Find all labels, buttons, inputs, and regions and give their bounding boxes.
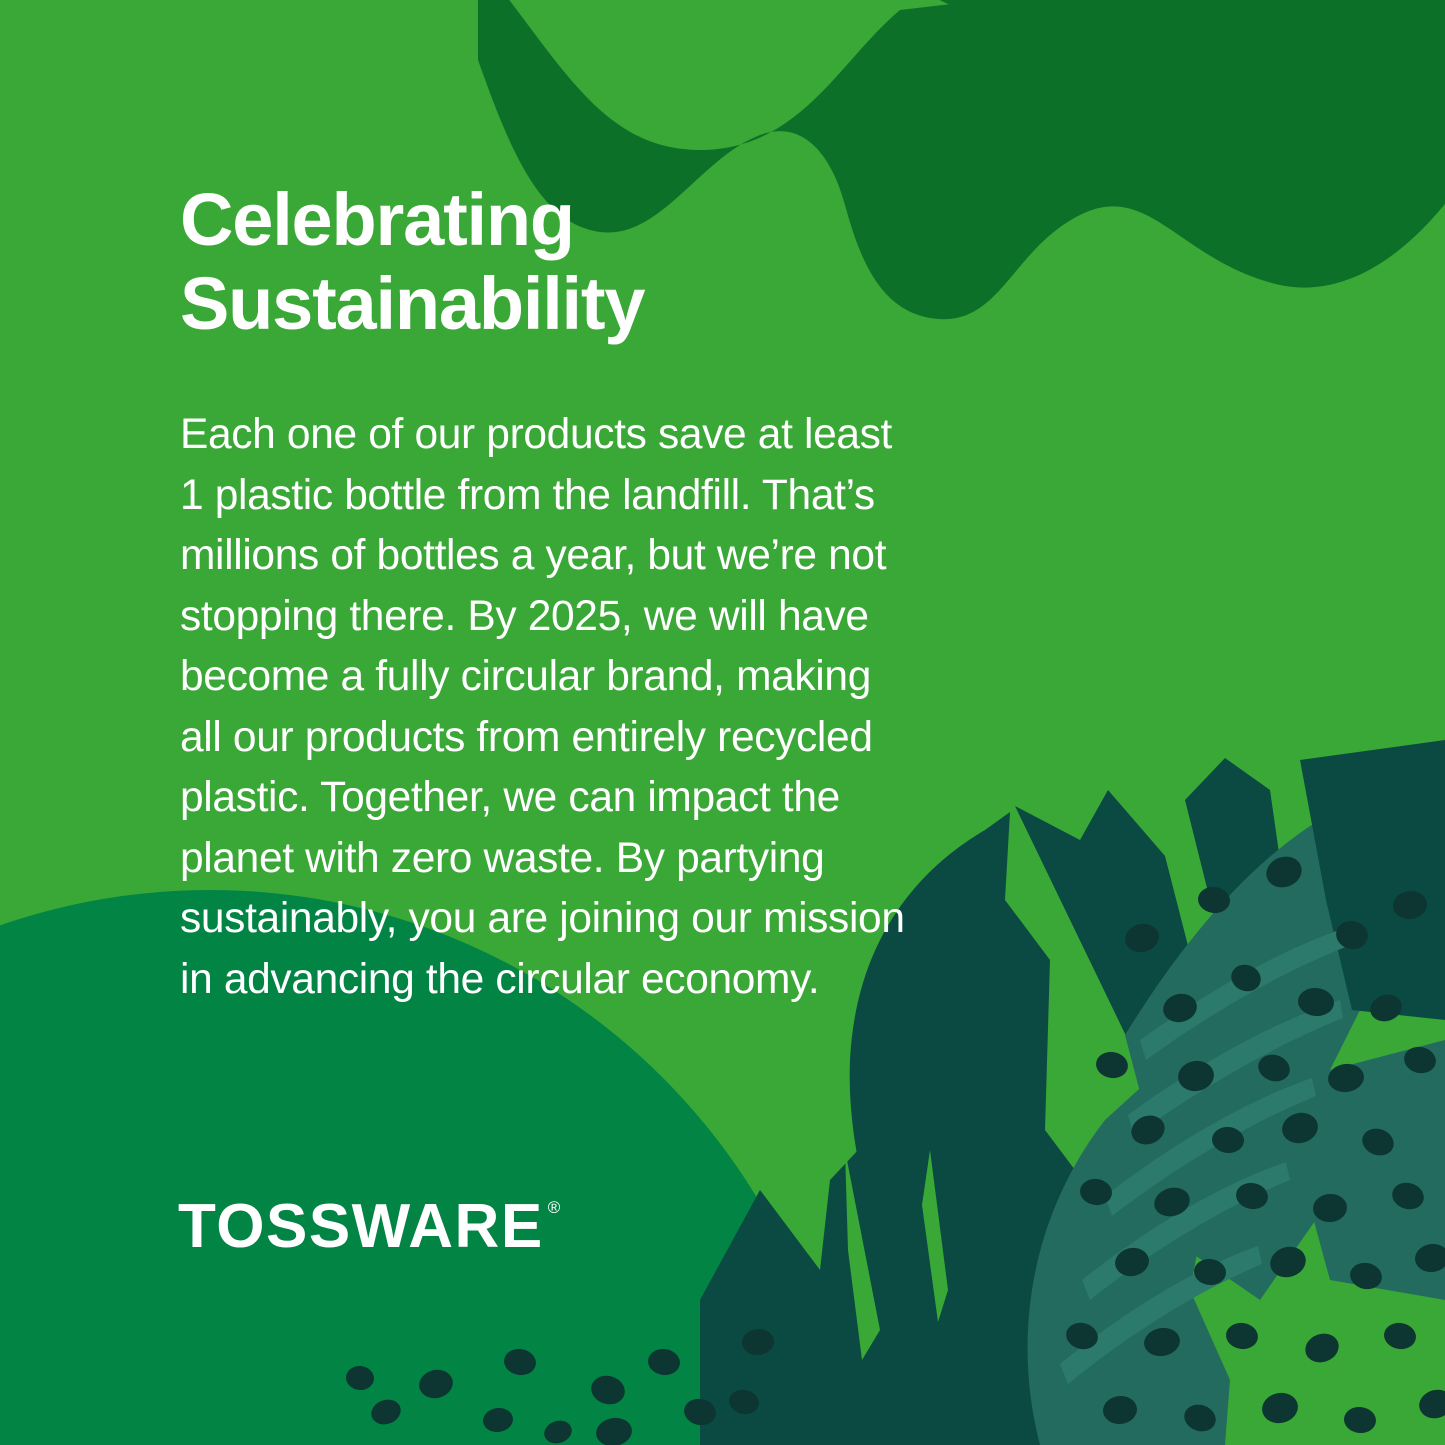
registered-trademark-icon: ® [548,1199,561,1216]
sustainability-poster: Celebrating Sustainability Each one of o… [0,0,1445,1445]
brand-logo: TOSSWARE ® [178,1196,560,1258]
body-copy: Each one of our products save at least 1… [180,405,1010,1010]
poster-content: Celebrating Sustainability Each one of o… [0,0,1445,1445]
brand-wordmark: TOSSWARE [178,1196,544,1258]
page-title: Celebrating Sustainability [180,178,1040,345]
